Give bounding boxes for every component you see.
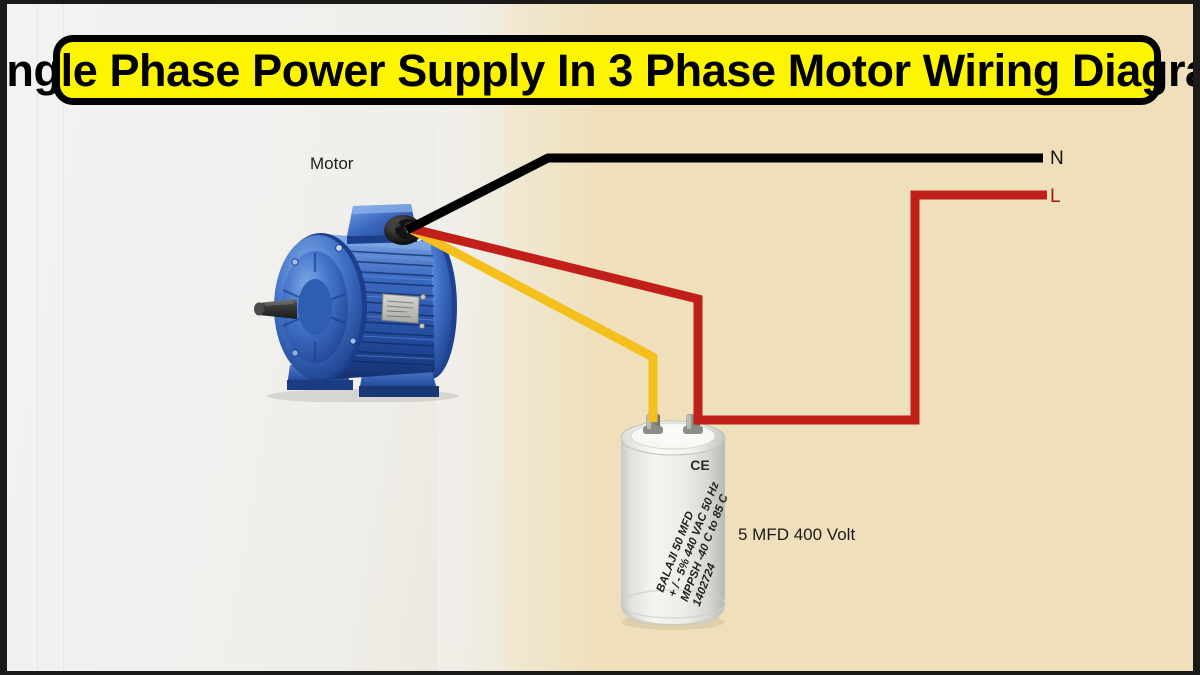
motor-bolt: [336, 245, 343, 252]
page-title: Single Phase Power Supply In 3 Phase Mot…: [0, 48, 1200, 93]
background-seam-left: [37, 4, 38, 675]
motor-label: Motor: [310, 154, 353, 174]
motor-illustration: [235, 190, 467, 402]
capacitor-terminal-left: [643, 414, 663, 434]
motor-shaft: [254, 299, 297, 319]
terminal-line-label: L: [1050, 186, 1061, 208]
capacitor-illustration: CE BALAJI 50 MFD + / - 5% 440 VAC 50 Hz …: [603, 408, 743, 632]
terminal-neutral-label: N: [1050, 148, 1064, 170]
ce-mark-icon: CE: [690, 457, 709, 473]
motor-junction-box: [347, 204, 422, 245]
capacitor-caption: 5 MFD 400 Volt: [738, 525, 855, 545]
cable-gland: [384, 215, 422, 245]
background-seam-inner: [63, 4, 64, 675]
title-banner: Single Phase Power Supply In 3 Phase Mot…: [53, 35, 1161, 105]
capacitor-terminal-right: [683, 414, 703, 434]
diagram-canvas: Single Phase Power Supply In 3 Phase Mot…: [0, 0, 1200, 675]
